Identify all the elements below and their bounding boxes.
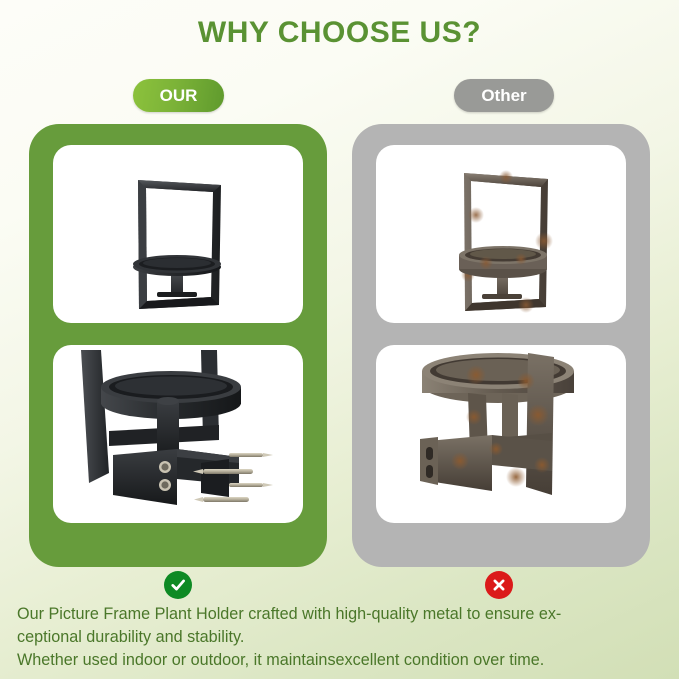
black-frame-plant-holder-art xyxy=(53,145,303,323)
product-image-ours-bracket xyxy=(53,345,303,523)
photo-card-ours-front xyxy=(53,145,303,323)
description-line-1: Our Picture Frame Plant Holder crafted w… xyxy=(17,603,667,626)
badge-other: Other xyxy=(454,79,554,112)
description-line-3: Whether used indoor or outdoor, it maint… xyxy=(17,649,667,672)
badge-our: OUR xyxy=(133,79,224,112)
check-glyph xyxy=(169,576,187,594)
description-text: Our Picture Frame Plant Holder crafted w… xyxy=(17,603,667,672)
description-line-2: ceptional durability and stability. xyxy=(17,626,667,649)
product-image-other-front xyxy=(376,145,626,323)
rusty-frame-plant-holder-art xyxy=(376,145,626,323)
photo-card-ours-bracket xyxy=(53,345,303,523)
page-title: WHY CHOOSE US? xyxy=(0,16,679,50)
photo-card-other-bracket xyxy=(376,345,626,523)
check-circle-icon xyxy=(164,571,192,599)
black-bracket-detail-art xyxy=(53,345,303,523)
infographic-page: WHY CHOOSE US? OUR Other xyxy=(0,0,679,679)
photo-card-other-front xyxy=(376,145,626,323)
rusty-bracket-detail-art xyxy=(376,345,626,523)
panel-other xyxy=(352,124,650,567)
x-circle-icon xyxy=(485,571,513,599)
badge-our-label: OUR xyxy=(160,86,198,106)
x-glyph xyxy=(490,576,508,594)
badge-other-label: Other xyxy=(481,86,526,106)
product-image-other-bracket xyxy=(376,345,626,523)
panel-ours xyxy=(29,124,327,567)
product-image-ours-front xyxy=(53,145,303,323)
